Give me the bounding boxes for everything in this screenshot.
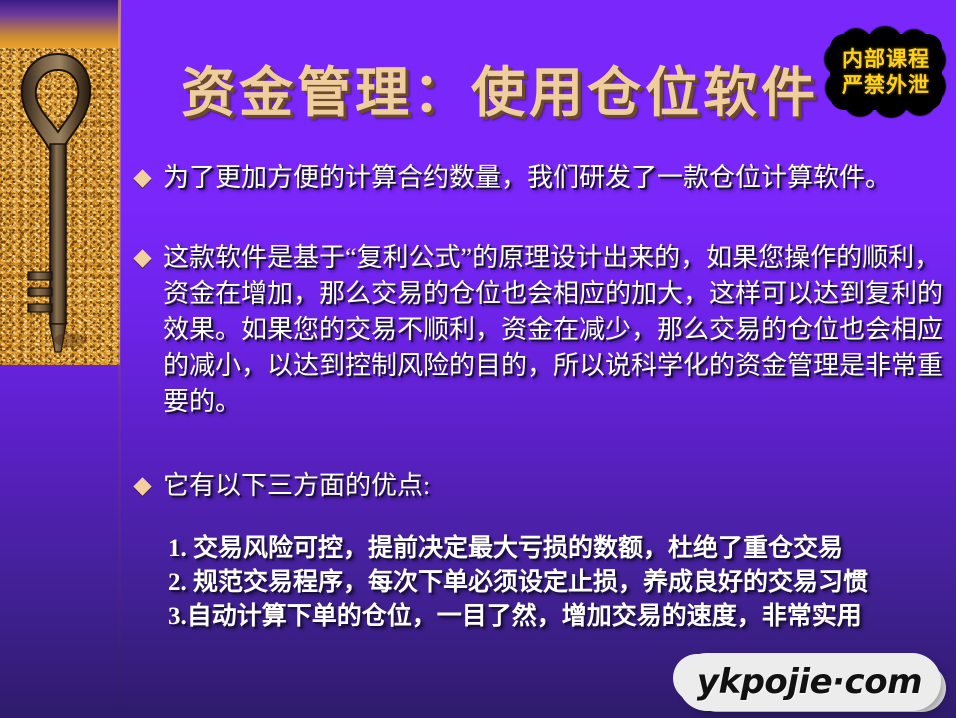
bullet-text-3: 它有以下三方面的优点: xyxy=(163,468,946,504)
advantages-list: 1. 交易风险可控，提前决定最大亏损的数额，杜绝了重仓交易 2. 规范交易程序，… xyxy=(128,532,946,634)
diamond-bullet-icon xyxy=(133,169,151,187)
spacer-3 xyxy=(128,504,946,532)
confidential-badge: 内部课程 严禁外泄 xyxy=(824,26,948,118)
bullet-item-1: 为了更加方便的计算合约数量，我们研发了一款仓位计算软件。 xyxy=(128,160,946,196)
list-item: 3.自动计算下单的仓位，一目了然，增加交易的速度，非常实用 xyxy=(168,600,946,634)
slide-title: 资金管理：使用仓位软件 xyxy=(150,48,850,127)
diamond-bullet-icon xyxy=(133,477,151,495)
badge-text: 内部课程 严禁外泄 xyxy=(824,26,948,118)
site-watermark: ykpojie·com xyxy=(681,656,938,708)
bullet-item-3: 它有以下三方面的优点: xyxy=(128,468,946,504)
list-item: 2. 规范交易程序，每次下单必须设定止损，养成良好的交易习惯 xyxy=(168,566,946,600)
diamond-bullet-icon xyxy=(133,249,151,267)
bullet-item-2: 这款软件是基于“复利公式”的原理设计出来的，如果您操作的顺利，资金在增加，那么交… xyxy=(128,240,946,420)
spacer-1 xyxy=(128,196,946,240)
badge-line-1: 内部课程 xyxy=(842,48,930,70)
badge-line-2: 严禁外泄 xyxy=(842,74,930,96)
presentation-slide: 资金管理：使用仓位软件 内部课程 严禁外泄 为了更加方便的计算合约数量，我们研发… xyxy=(0,0,956,718)
slide-body: 为了更加方便的计算合约数量，我们研发了一款仓位计算软件。 这款软件是基于“复利公… xyxy=(128,160,946,634)
key-icon xyxy=(0,40,120,365)
key-photo xyxy=(0,40,120,365)
sidebar-decoration xyxy=(0,0,120,718)
sidebar-divider xyxy=(118,0,121,718)
bullet-text-1: 为了更加方便的计算合约数量，我们研发了一款仓位计算软件。 xyxy=(163,160,946,196)
spacer-2 xyxy=(128,420,946,468)
bullet-text-2: 这款软件是基于“复利公式”的原理设计出来的，如果您操作的顺利，资金在增加，那么交… xyxy=(163,240,946,420)
list-item: 1. 交易风险可控，提前决定最大亏损的数额，杜绝了重仓交易 xyxy=(168,532,946,566)
